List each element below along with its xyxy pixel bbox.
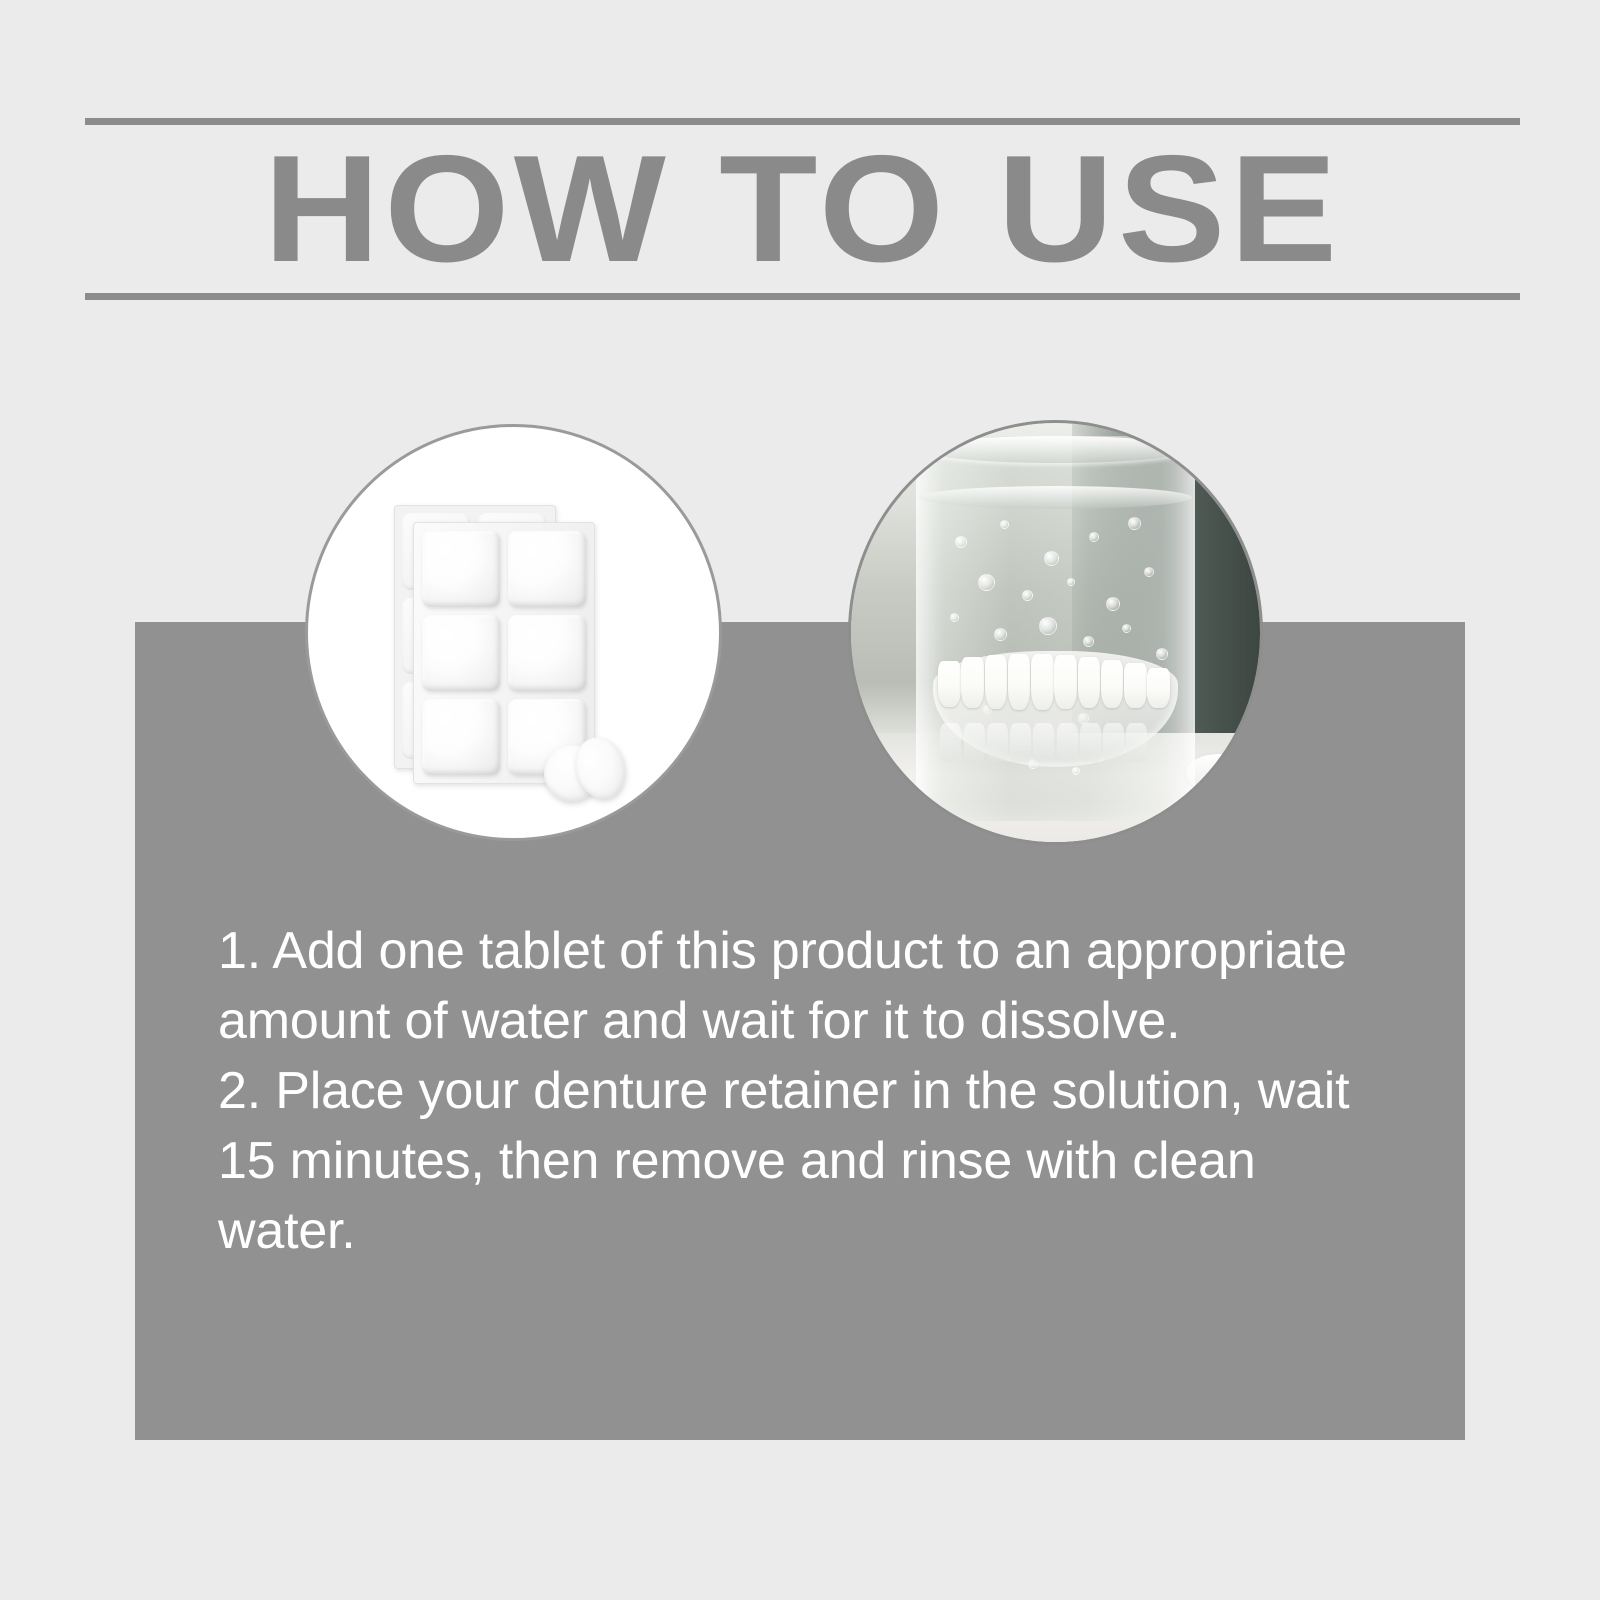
bubble [1044, 551, 1059, 566]
denture-gum-slot [1057, 723, 1078, 762]
denture-gum-slot [1080, 723, 1101, 762]
page-title: HOW TO USE [42, 124, 1563, 294]
glass-image-circle [848, 420, 1263, 845]
bubble [994, 628, 1007, 641]
bubble [1000, 520, 1009, 529]
denture-tooth [938, 661, 961, 707]
blister-pack-illustration [308, 427, 719, 838]
denture-tooth [961, 657, 984, 708]
header-block: HOW TO USE [85, 118, 1520, 300]
denture-tooth [1008, 654, 1031, 711]
denture-gum-slot [964, 723, 985, 762]
how-to-use-infographic: HOW TO USE [0, 0, 1600, 1600]
tablet-pocket [508, 531, 586, 607]
bubble [1072, 767, 1080, 775]
bubble [978, 574, 995, 591]
tablet-beside-glass [1186, 754, 1251, 792]
bubble [950, 613, 959, 622]
denture-gum-slot [1010, 723, 1031, 762]
bubble [1039, 617, 1057, 635]
tablets-image-circle [305, 424, 722, 841]
bubble [955, 536, 967, 548]
denture-gum-slot [1103, 723, 1124, 762]
tablet-pocket [508, 615, 586, 691]
denture-tooth [1124, 663, 1147, 708]
glass-photo [851, 423, 1260, 842]
denture-tooth [1078, 657, 1101, 708]
denture-tooth [1031, 654, 1054, 711]
bubble [1144, 567, 1154, 577]
denture-gum-slot [987, 723, 1008, 762]
bubble [1106, 597, 1120, 611]
denture-gum-slot [940, 723, 961, 762]
denture-retainer [933, 651, 1178, 767]
denture-gum-slot [1126, 723, 1147, 762]
bubble [1083, 636, 1094, 647]
denture-gum-slot [1033, 723, 1054, 762]
tablet-pocket [422, 699, 500, 775]
denture-tooth [1147, 668, 1170, 708]
denture-tooth [1101, 660, 1124, 709]
bubble [1022, 590, 1033, 601]
bubble [1128, 517, 1141, 530]
bubble [1067, 578, 1075, 586]
header-bottom-rule [85, 293, 1520, 300]
denture-tooth [1054, 655, 1077, 709]
tablet-pocket [422, 615, 500, 691]
bubble [1122, 624, 1131, 633]
denture-tooth [985, 655, 1008, 709]
water-glass [916, 436, 1194, 821]
bubble [1089, 532, 1099, 542]
instruction-step-1: 1. Add one tablet of this product to an … [218, 916, 1378, 1056]
instructions-text: 1. Add one tablet of this product to an … [218, 916, 1378, 1266]
instruction-step-2: 2. Place your denture retainer in the so… [218, 1056, 1378, 1266]
water-surface [919, 486, 1192, 509]
tablet-pocket [422, 531, 500, 607]
glass-rim [922, 436, 1189, 463]
